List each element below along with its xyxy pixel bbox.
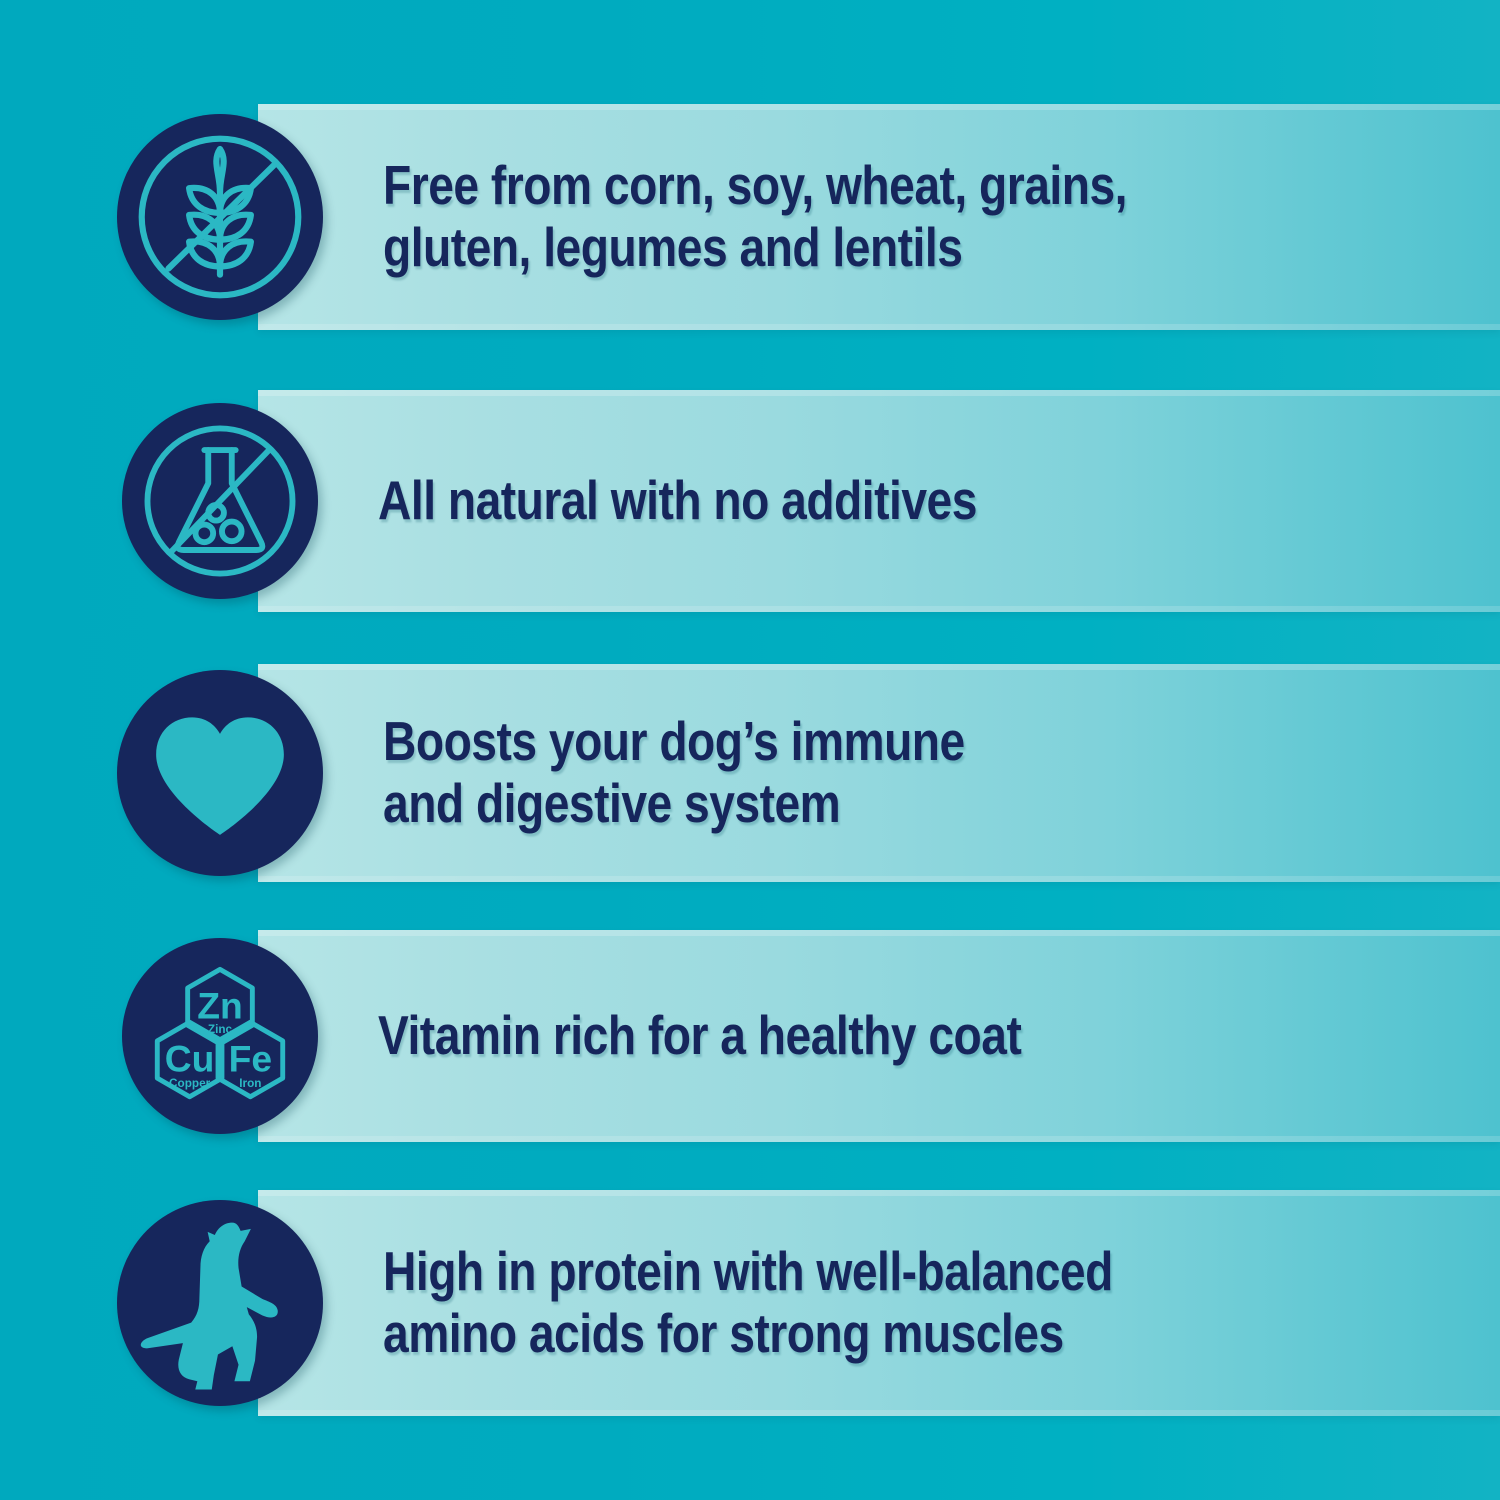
icon-disc [122, 403, 318, 599]
feature-row-protein: High in protein with well-balanced amino… [0, 1190, 1500, 1416]
feature-row-no-grains: Free from corn, soy, wheat, grains, glut… [0, 104, 1500, 330]
infographic-panel: Free from corn, soy, wheat, grains, glut… [0, 0, 1500, 1500]
heart-icon [117, 670, 323, 876]
feature-row-vitamins: Zn Zinc Cu Copper Fe Iron Vitamin rich f… [0, 930, 1500, 1142]
feature-row-immune: Boosts your dog’s immune and digestive s… [0, 664, 1500, 882]
feature-text: Boosts your dog’s immune and digestive s… [383, 711, 965, 834]
feature-text: Free from corn, soy, wheat, grains, glut… [383, 155, 1127, 278]
icon-disc [117, 1200, 323, 1406]
feature-text: High in protein with well-balanced amino… [383, 1241, 1113, 1364]
no-additives-flask-icon [122, 403, 318, 599]
icon-disc [117, 670, 323, 876]
no-grain-icon [117, 114, 323, 320]
mineral-name-copper: Copper [169, 1077, 211, 1090]
feature-text: Vitamin rich for a healthy coat [378, 1005, 1021, 1067]
feature-text: All natural with no additives [378, 470, 977, 532]
dog-silhouette-icon [117, 1200, 323, 1406]
icon-disc: Zn Zinc Cu Copper Fe Iron [122, 938, 318, 1134]
mineral-symbol-zn: Zn [197, 984, 243, 1026]
mineral-name-iron: Iron [239, 1077, 261, 1090]
mineral-symbol-fe: Fe [229, 1037, 272, 1079]
feature-row-no-additives: All natural with no additives [0, 390, 1500, 612]
mineral-symbol-cu: Cu [165, 1037, 215, 1079]
minerals-hexagon-icon: Zn Zinc Cu Copper Fe Iron [122, 938, 318, 1134]
mineral-name-zinc: Zinc [208, 1023, 233, 1036]
icon-disc [117, 114, 323, 320]
